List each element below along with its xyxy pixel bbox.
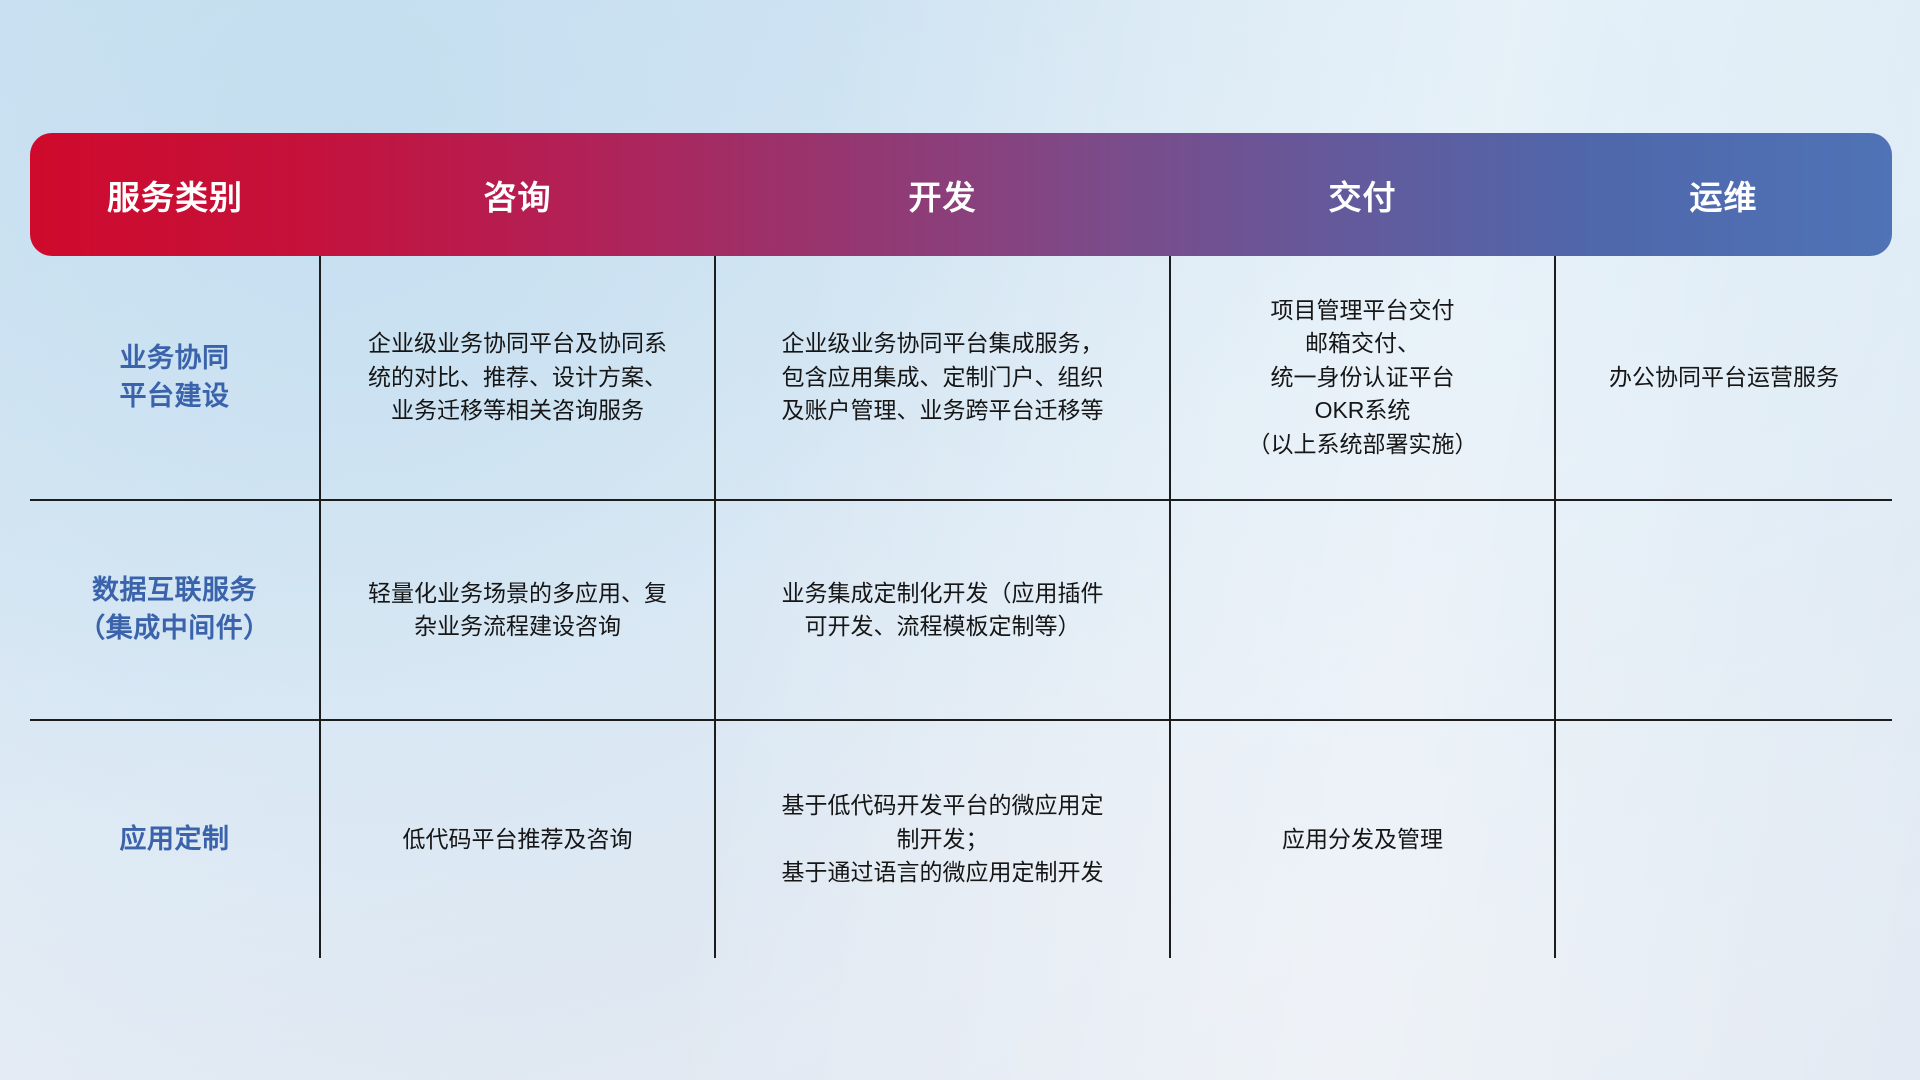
column-header-label: 运维 bbox=[1555, 171, 1892, 219]
cell-operations: 办公协同平台运营服务 bbox=[1555, 256, 1892, 500]
table-header-row: 服务类别 咨询 开发 交付 运维 bbox=[30, 133, 1892, 256]
column-header-label: 开发 bbox=[715, 171, 1170, 219]
table-row: 业务协同 平台建设 企业级业务协同平台及协同系 统的对比、推荐、设计方案、 业务… bbox=[30, 256, 1892, 500]
column-header-consulting: 咨询 bbox=[320, 133, 715, 256]
row-category-label: 业务协同 平台建设 bbox=[30, 256, 320, 500]
cell-consulting: 轻量化业务场景的多应用、复 杂业务流程建设咨询 bbox=[320, 500, 715, 720]
column-header-label: 交付 bbox=[1170, 171, 1555, 219]
cell-delivery: 项目管理平台交付 邮箱交付、 统一身份认证平台 OKR系统 （以上系统部署实施） bbox=[1170, 256, 1555, 500]
table-row: 应用定制 低代码平台推荐及咨询 基于低代码开发平台的微应用定 制开发； 基于通过… bbox=[30, 720, 1892, 958]
cell-delivery: 应用分发及管理 bbox=[1170, 720, 1555, 958]
row-category-label: 应用定制 bbox=[30, 720, 320, 958]
table-header: 服务类别 咨询 开发 交付 运维 bbox=[30, 133, 1892, 256]
cell-development: 业务集成定制化开发（应用插件 可开发、流程模板定制等） bbox=[715, 500, 1170, 720]
service-matrix-container: 服务类别 咨询 开发 交付 运维 业务协同 平台建设 企业级业务协同平台及协同 bbox=[30, 133, 1892, 958]
cell-operations bbox=[1555, 720, 1892, 958]
table-row: 数据互联服务 （集成中间件） 轻量化业务场景的多应用、复 杂业务流程建设咨询 业… bbox=[30, 500, 1892, 720]
column-header-service-category: 服务类别 bbox=[30, 133, 320, 256]
cell-development: 企业级业务协同平台集成服务， 包含应用集成、定制门户、组织 及账户管理、业务跨平… bbox=[715, 256, 1170, 500]
column-header-label: 服务类别 bbox=[30, 171, 320, 219]
column-header-development: 开发 bbox=[715, 133, 1170, 256]
cell-delivery bbox=[1170, 500, 1555, 720]
column-header-operations: 运维 bbox=[1555, 133, 1892, 256]
table-body: 业务协同 平台建设 企业级业务协同平台及协同系 统的对比、推荐、设计方案、 业务… bbox=[30, 256, 1892, 958]
cell-consulting: 企业级业务协同平台及协同系 统的对比、推荐、设计方案、 业务迁移等相关咨询服务 bbox=[320, 256, 715, 500]
column-header-delivery: 交付 bbox=[1170, 133, 1555, 256]
cell-development: 基于低代码开发平台的微应用定 制开发； 基于通过语言的微应用定制开发 bbox=[715, 720, 1170, 958]
row-category-label: 数据互联服务 （集成中间件） bbox=[30, 500, 320, 720]
cell-consulting: 低代码平台推荐及咨询 bbox=[320, 720, 715, 958]
cell-operations bbox=[1555, 500, 1892, 720]
column-header-label: 咨询 bbox=[320, 171, 715, 219]
service-matrix-table: 服务类别 咨询 开发 交付 运维 业务协同 平台建设 企业级业务协同平台及协同 bbox=[30, 133, 1892, 958]
